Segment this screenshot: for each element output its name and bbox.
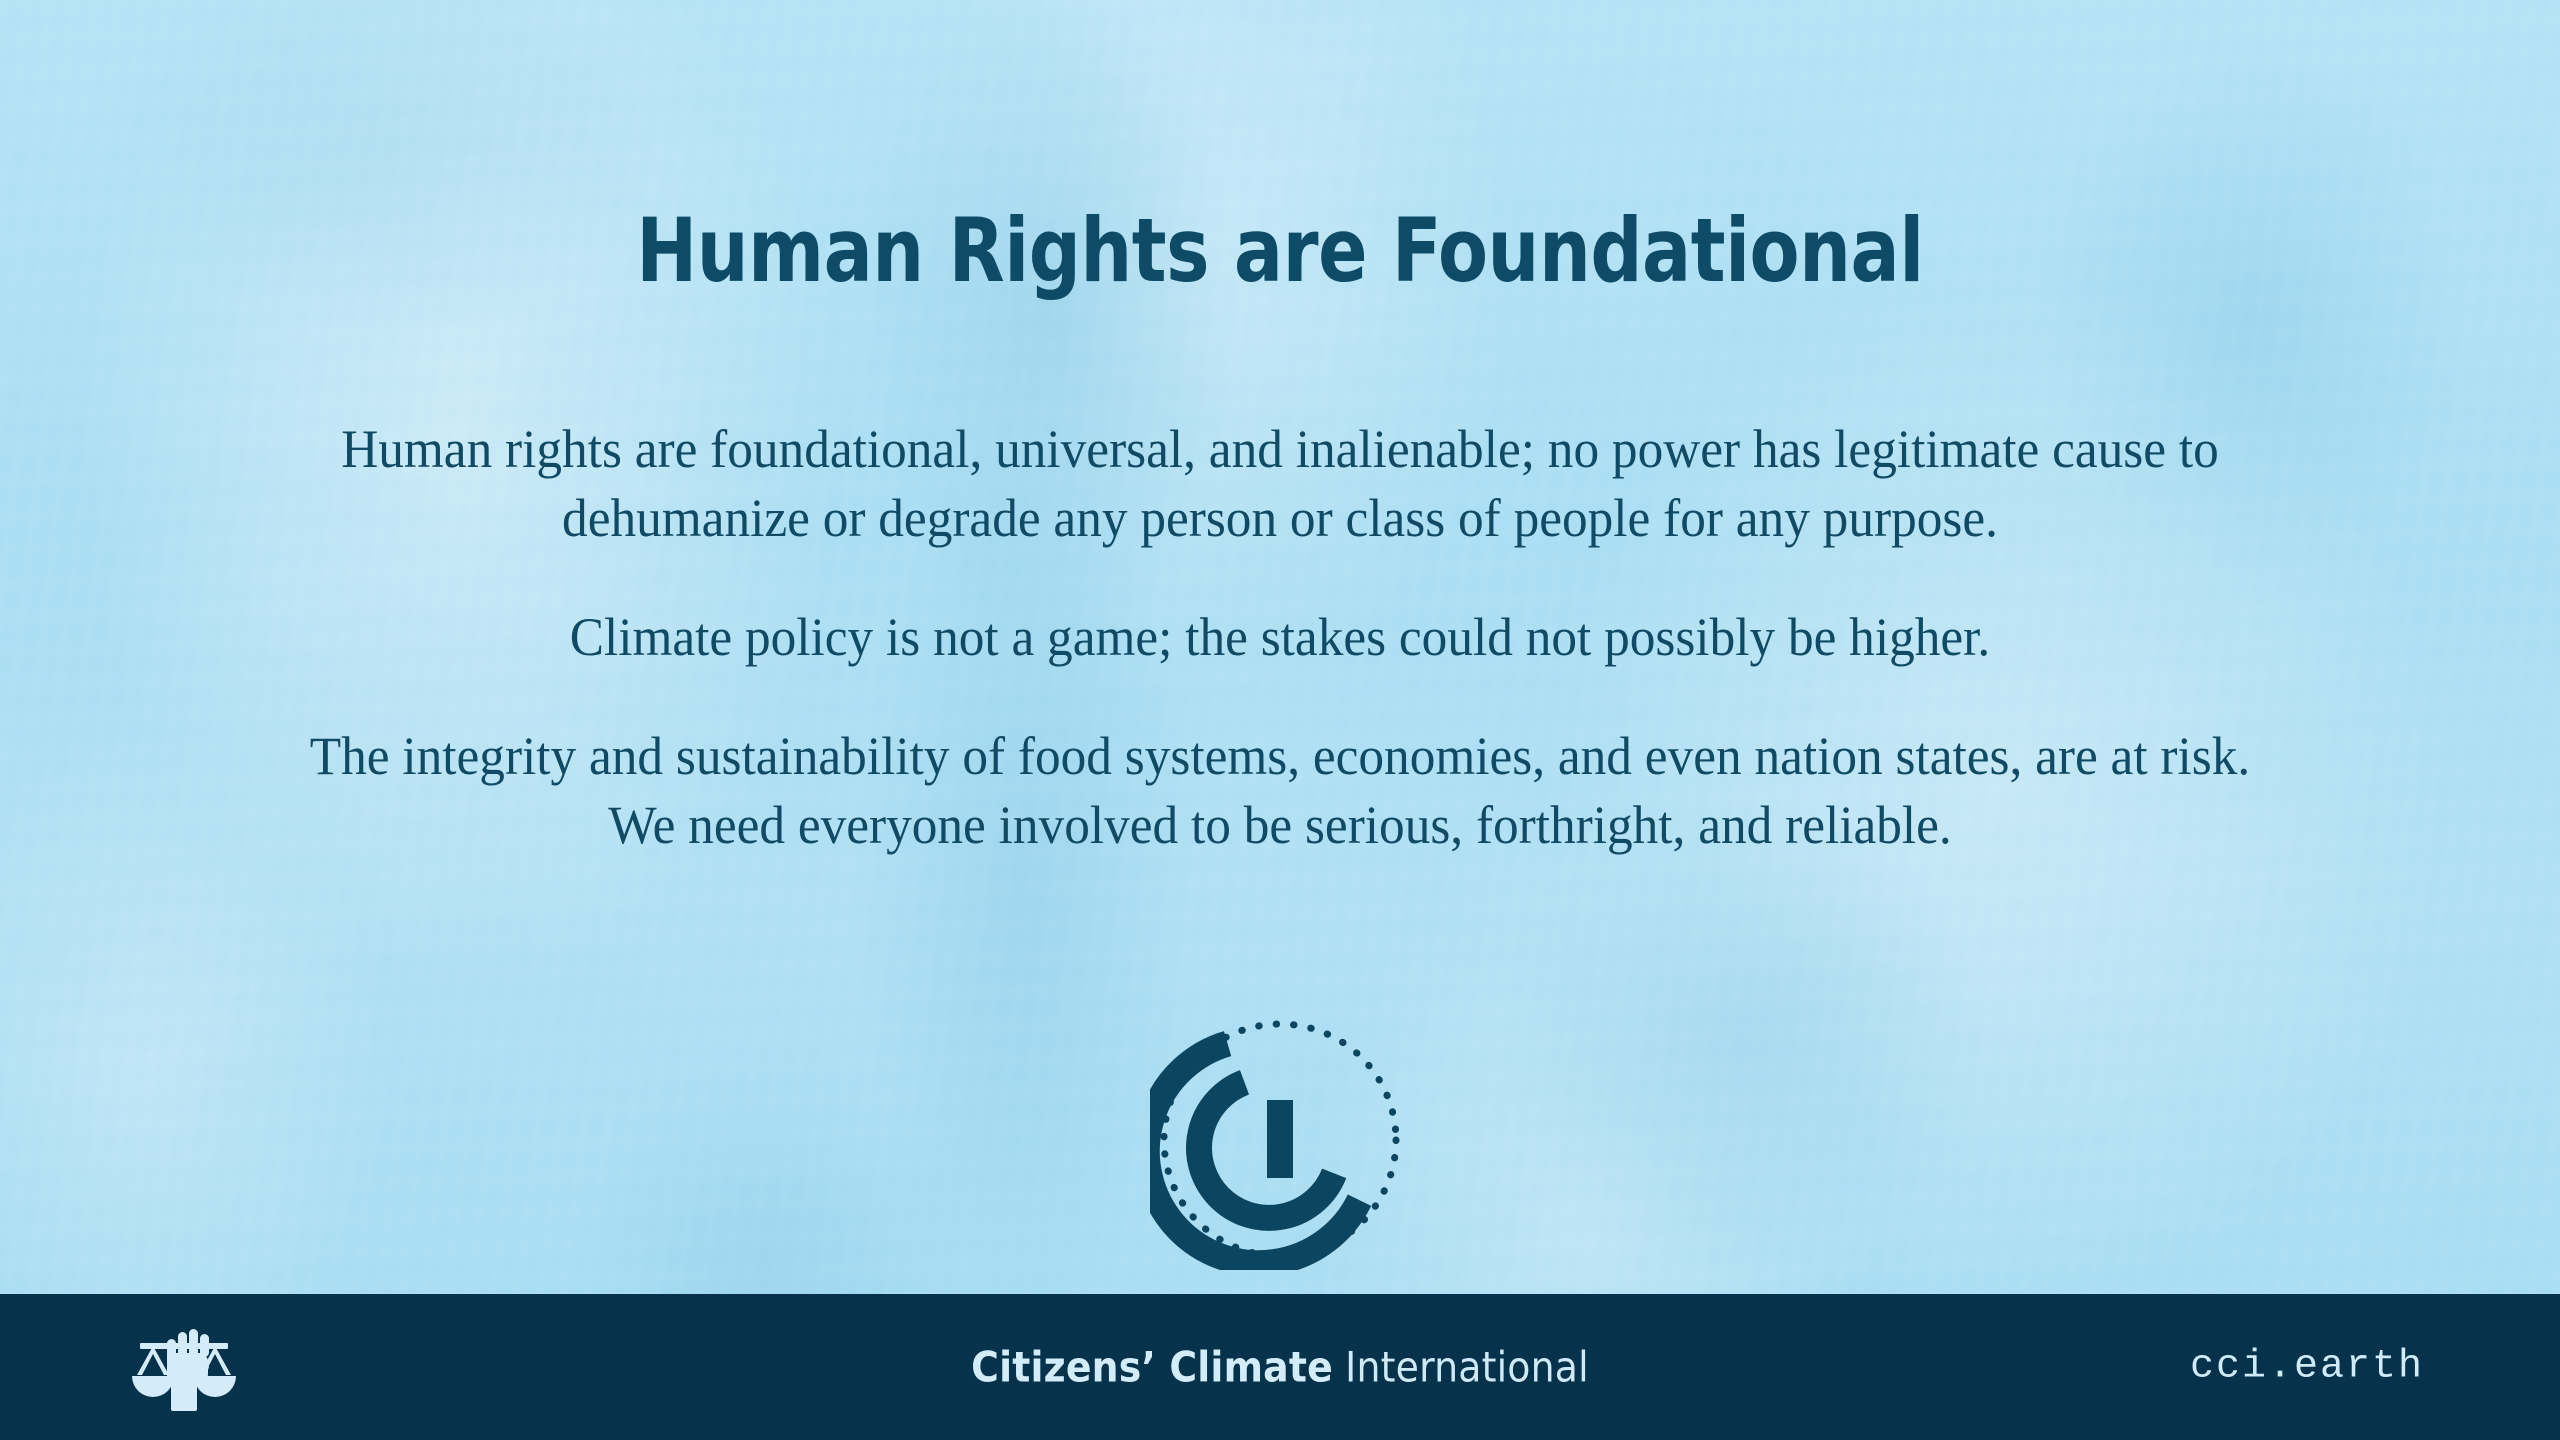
footer-url[interactable]: cci.earth xyxy=(2190,1345,2424,1390)
footer-brand-light: International xyxy=(1333,1343,1589,1392)
logo-arc-outer xyxy=(1150,1044,1360,1264)
footer-brand: Citizens’ Climate International xyxy=(0,1343,2560,1392)
paragraph-3: The integrity and sustainability of food… xyxy=(273,722,2287,860)
page-title: Human Rights are Foundational xyxy=(102,207,2457,295)
footer-bar: Citizens’ Climate International cci.eart… xyxy=(0,1294,2560,1440)
paragraph-2: Climate policy is not a game; the stakes… xyxy=(273,603,2287,672)
footer-brand-strong: Citizens’ Climate xyxy=(971,1343,1333,1392)
body-copy: Human rights are foundational, universal… xyxy=(220,415,2340,861)
logo-i-bar xyxy=(1267,1100,1293,1178)
slide-canvas: Human Rights are Foundational Human righ… xyxy=(0,0,2560,1440)
cci-logo-mark xyxy=(1150,1010,1410,1270)
paragraph-1: Human rights are foundational, universal… xyxy=(273,415,2287,553)
logo-arc-inner xyxy=(1199,1082,1334,1218)
